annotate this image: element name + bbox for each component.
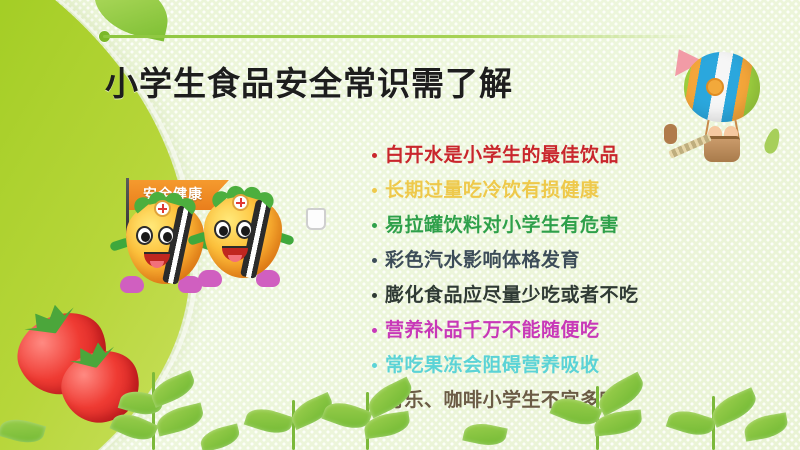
- mascot-group: 安全健康: [110, 170, 340, 320]
- list-item: 易拉罐饮料对小学生有危害: [372, 208, 702, 243]
- cup-icon: [306, 208, 326, 230]
- list-item: 可乐、咖啡小学生不宜多喝: [372, 383, 702, 418]
- bullet-dot-icon: [372, 188, 377, 193]
- bullet-dot-icon: [372, 258, 377, 263]
- safety-tips-list: 白开水是小学生的最佳饮品 长期过量吃冷饮有损健康 易拉罐饮料对小学生有危害 彩色…: [372, 138, 702, 418]
- leaf-icon: [244, 403, 295, 438]
- mascot-eye: [214, 220, 231, 239]
- bullet-dot-icon: [372, 293, 377, 298]
- list-item: 白开水是小学生的最佳饮品: [372, 138, 702, 173]
- leaf-icon: [154, 403, 206, 437]
- bullet-dot-icon: [372, 153, 377, 158]
- leaf-icon: [742, 412, 789, 441]
- page-title: 小学生食品安全常识需了解: [105, 62, 513, 106]
- list-item-label: 营养补品千万不能随便吃: [385, 321, 600, 340]
- bullet-dot-icon: [372, 363, 377, 368]
- list-item-label: 膨化食品应尽量少吃或者不吃: [385, 286, 639, 305]
- list-item-label: 常吃果冻会阻碍营养吸收: [385, 356, 600, 375]
- mascot-shoe: [120, 276, 144, 293]
- list-item: 营养补品千万不能随便吃: [372, 313, 702, 348]
- list-item-label: 易拉罐饮料对小学生有危害: [385, 216, 619, 235]
- header-rule: [103, 35, 703, 38]
- list-item-label: 彩色汽水影响体格发育: [385, 251, 580, 270]
- list-item: 长期过量吃冷饮有损健康: [372, 173, 702, 208]
- leaf-icon: [462, 420, 507, 449]
- list-item-label: 白开水是小学生的最佳饮品: [385, 146, 619, 165]
- leaf-icon: [198, 423, 242, 450]
- list-item: 彩色汽水影响体格发育: [372, 243, 702, 278]
- mascot-shoe: [198, 270, 222, 287]
- list-item: 膨化食品应尽量少吃或者不吃: [372, 278, 702, 313]
- bullet-dot-icon: [372, 328, 377, 333]
- medical-cross-icon: [232, 194, 249, 211]
- mascot-eye: [158, 226, 175, 245]
- list-item-label: 长期过量吃冷饮有损健康: [385, 181, 600, 200]
- list-item: 常吃果冻会阻碍营养吸收: [372, 348, 702, 383]
- balloon-badge-icon: [706, 78, 724, 96]
- mascot-eye: [136, 226, 153, 245]
- mascot-eye: [236, 220, 253, 239]
- mango-mascot-icon: [204, 190, 282, 282]
- medical-cross-icon: [154, 200, 171, 217]
- slide-canvas: 小学生食品安全常识需了解 安全健康: [0, 0, 800, 450]
- bullet-dot-icon: [372, 223, 377, 228]
